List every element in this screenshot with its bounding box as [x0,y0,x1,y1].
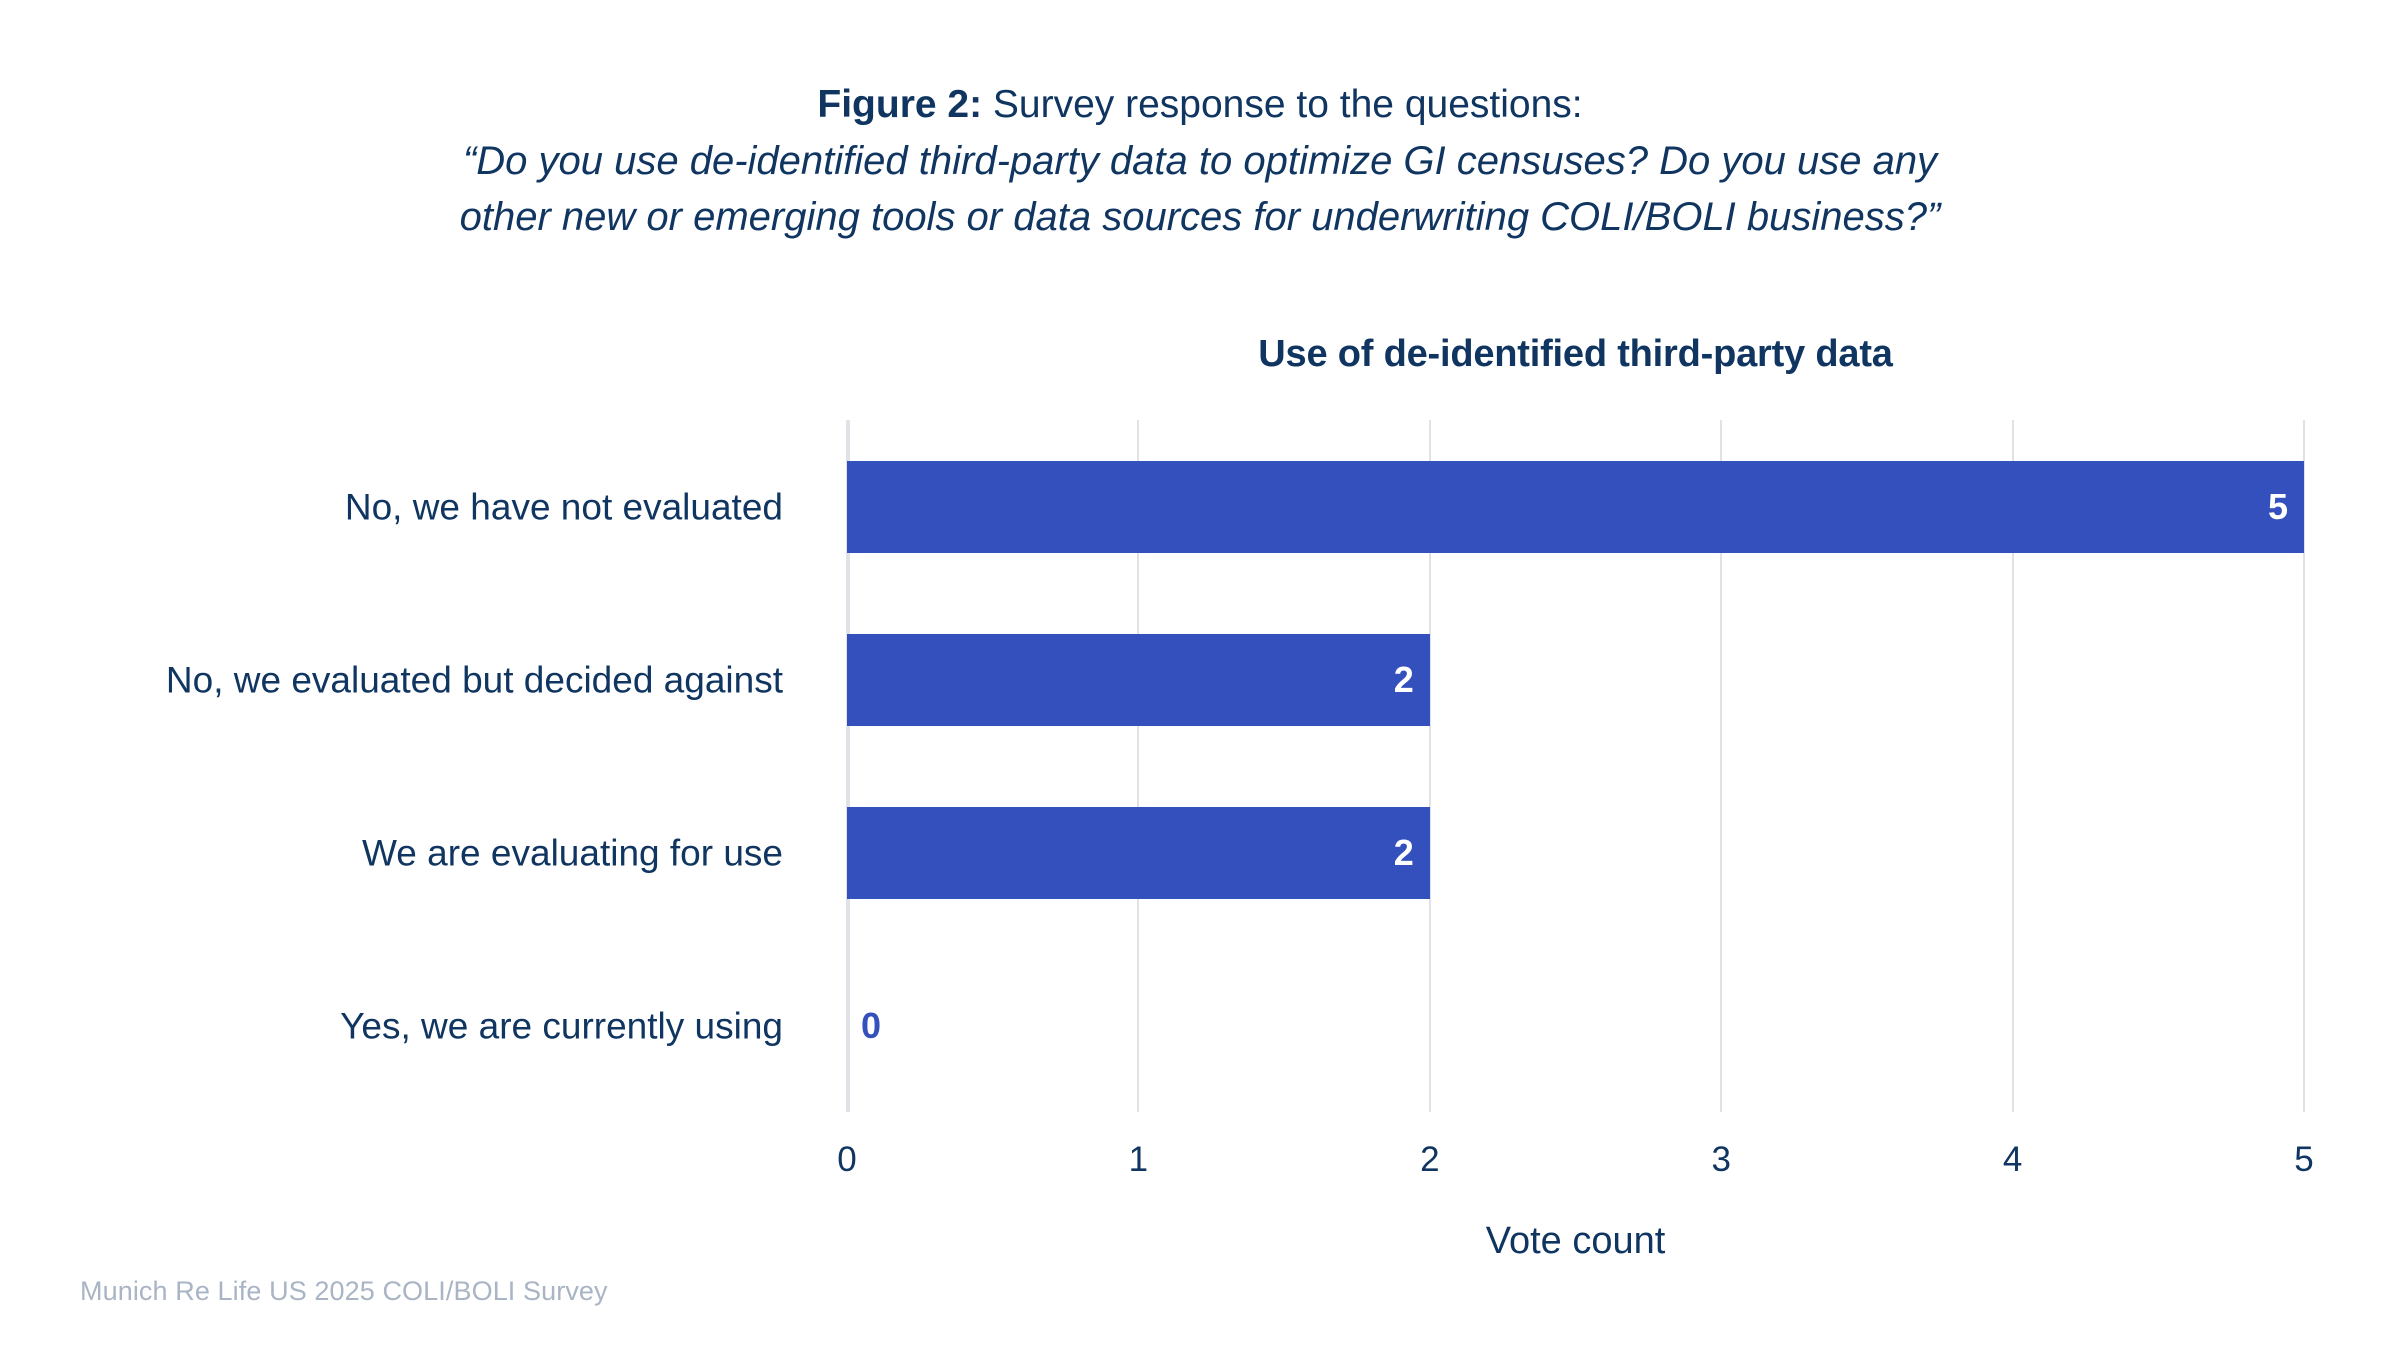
y-axis-category-labels: No, we have not evaluatedNo, we evaluate… [0,420,815,1112]
y-axis-label-3: Yes, we are currently using [0,1007,815,1044]
y-axis-label-2: We are evaluating for use [0,834,815,871]
bar[interactable]: 2 [847,634,1430,726]
bar-row[interactable]: 2 [847,634,2304,726]
bar[interactable]: 2 [847,807,1430,899]
bar-value-label: 2 [1394,662,1430,698]
bar-value-label: 2 [1394,835,1430,871]
x-tick-5: 5 [2294,1142,2313,1177]
bar-row[interactable]: 5 [847,461,2304,553]
x-tick-0: 0 [837,1142,856,1177]
x-tick-2: 2 [1420,1142,1439,1177]
bar-row[interactable]: 2 [847,807,2304,899]
bar-value-label: 0 [861,1008,881,1044]
x-axis-title: Vote count [847,1220,2304,1263]
x-tick-4: 4 [2003,1142,2022,1177]
bar-row[interactable]: 0 [847,980,2304,1072]
chart-plot-wrapper: No, we have not evaluatedNo, we evaluate… [0,0,2400,1350]
plot-area: 5220 [847,420,2304,1112]
bar-value-label: 5 [2268,489,2304,525]
y-axis-label-1: No, we evaluated but decided against [0,661,815,698]
x-tick-3: 3 [1711,1142,1730,1177]
bar[interactable]: 5 [847,461,2304,553]
y-axis-label-0: No, we have not evaluated [0,488,815,525]
source-note: Munich Re Life US 2025 COLI/BOLI Survey [80,1276,608,1307]
x-tick-1: 1 [1129,1142,1148,1177]
x-axis-tick-labels: 012345 [847,1142,2304,1192]
